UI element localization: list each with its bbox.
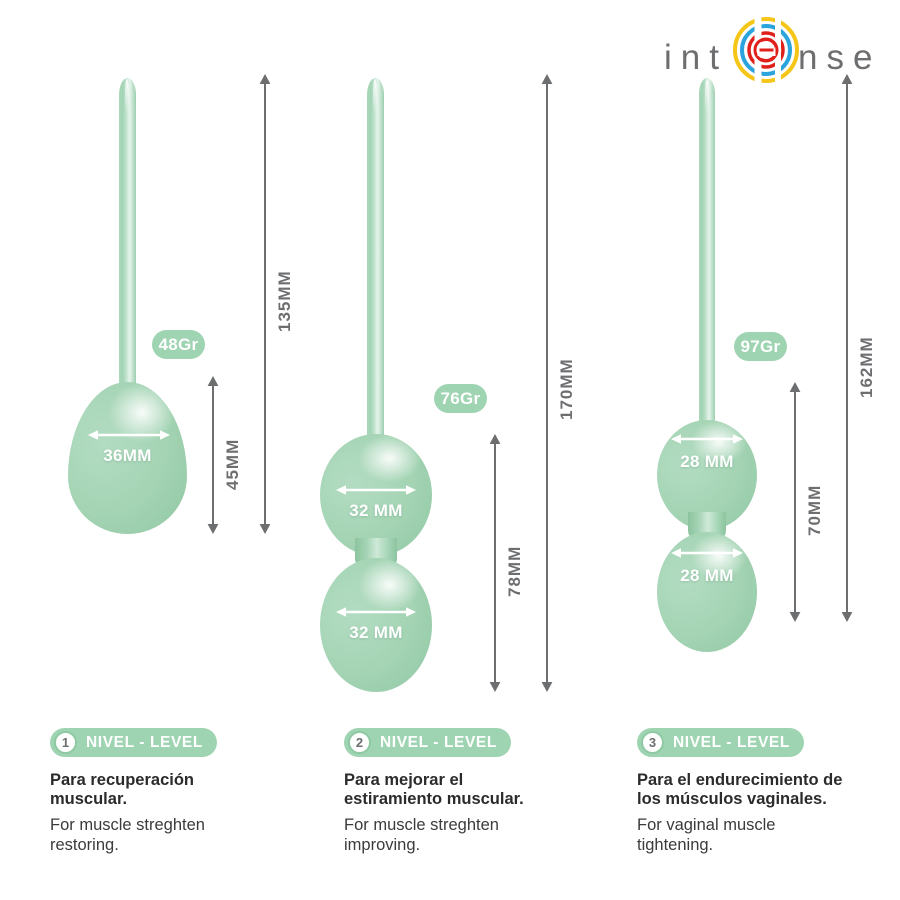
level-label-1: NIVEL - LEVEL: [86, 734, 203, 752]
product-1-length-dimension-label: 135MM: [275, 270, 295, 332]
level-title-es-2: Para mejorar el estiramiento muscular.: [344, 771, 614, 809]
product-1-width-label-1: 36MM: [68, 446, 187, 466]
product-3-width-arrow-1: [671, 432, 743, 446]
product-3-length-dimension-label: 162MM: [857, 336, 877, 398]
product-1-length-dimension-line: [257, 74, 273, 534]
level-card-1: 1 NIVEL - LEVEL Para recuperación muscul…: [50, 728, 320, 856]
level-label-2: NIVEL - LEVEL: [380, 734, 497, 752]
product-2-width-label-2: 32 MM: [320, 623, 432, 643]
level-number-3: 3: [641, 731, 664, 754]
product-1-weight-badge: 48Gr: [152, 330, 205, 359]
product-3-width-arrow-2: [671, 546, 743, 560]
level-title-en-1: For muscle streghten restoring.: [50, 816, 320, 856]
product-2-width-arrow-2: [336, 605, 416, 619]
level-label-3: NIVEL - LEVEL: [673, 734, 790, 752]
product-2-length-dimension-line: [539, 74, 555, 692]
product-1-body-dimension-line: [205, 376, 221, 534]
level-title-es-3: Para el endurecimiento de los músculos v…: [637, 771, 900, 809]
level-card-2: 2 NIVEL - LEVEL Para mejorar el estirami…: [344, 728, 614, 856]
level-badge-2: 2 NIVEL - LEVEL: [344, 728, 511, 757]
product-2-weight-badge: 76Gr: [434, 384, 487, 413]
product-2-width-arrow-1: [336, 483, 416, 497]
product-3-width-label-1: 28 MM: [657, 452, 757, 472]
product-3-length-dimension-line: [839, 74, 855, 622]
product-1-width-arrow-1: [88, 428, 170, 442]
product-2-stem: [367, 78, 384, 444]
product-3-body-dimension-line: [787, 382, 803, 622]
product-3-weight-badge: 97Gr: [734, 332, 787, 361]
level-badge-1: 1 NIVEL - LEVEL: [50, 728, 217, 757]
product-2-length-dimension-label: 170MM: [557, 358, 577, 420]
product-3-width-label-2: 28 MM: [657, 566, 757, 586]
product-1-stem: [119, 78, 136, 398]
level-title-es-1: Para recuperación muscular.: [50, 771, 320, 809]
product-3-body-dimension-label: 70MM: [805, 485, 825, 536]
product-2-body-dimension-line: [487, 434, 503, 692]
product-3-stem: [699, 78, 715, 430]
level-badge-3: 3 NIVEL - LEVEL: [637, 728, 804, 757]
level-title-en-3: For vaginal muscle tightening.: [637, 816, 900, 856]
product-2-body-dimension-label: 78MM: [505, 546, 525, 597]
product-2-width-label-1: 32 MM: [320, 501, 432, 521]
level-title-en-2: For muscle streghten improving.: [344, 816, 614, 856]
product-1-body-dimension-label: 45MM: [223, 439, 243, 490]
level-card-3: 3 NIVEL - LEVEL Para el endurecimiento d…: [637, 728, 900, 856]
level-number-1: 1: [54, 731, 77, 754]
level-number-2: 2: [348, 731, 371, 754]
